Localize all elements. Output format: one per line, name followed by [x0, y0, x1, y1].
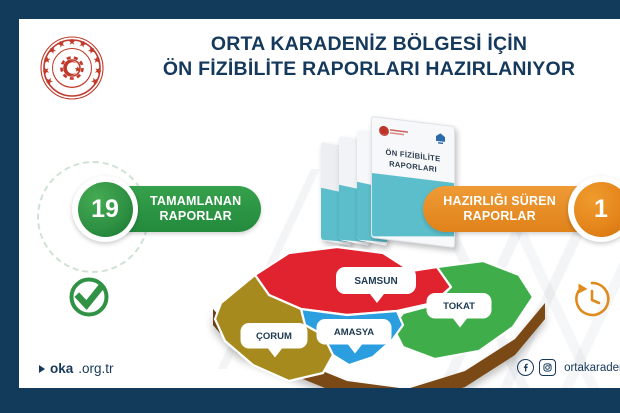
map-label-amasya: AMASYA — [334, 327, 374, 338]
check-circle-icon — [67, 275, 111, 319]
instagram-icon[interactable] — [539, 359, 556, 376]
ministry-logo-small — [379, 125, 409, 140]
completed-label-line-2: RAPORLAR — [150, 209, 241, 224]
bottom-navy-band — [0, 388, 620, 413]
social-handle: ortakaradeni — [564, 362, 620, 374]
in-progress-count-disc: 1 — [568, 176, 620, 242]
content-panel: ORTA KARADENİZ BÖLGESİ İÇİN ÖN FİZİBİLİT… — [19, 19, 620, 388]
website-url[interactable]: oka.org.tr — [39, 361, 114, 376]
in-progress-label-line-2: RAPORLAR — [443, 209, 556, 224]
title-line-2: ÖN FİZİBİLİTE RAPORLARI HAZIRLANIYOR — [119, 58, 619, 80]
stat-badge-in-progress[interactable]: 1 HAZIRLIĞI SÜREN RAPORLAR — [423, 176, 620, 242]
completed-count-disc: 19 — [72, 176, 138, 242]
stat-badge-completed[interactable]: 19 TAMAMLANAN RAPORLAR — [72, 176, 261, 242]
facebook-icon[interactable] — [517, 359, 534, 376]
clock-arrow-icon — [570, 277, 614, 321]
in-progress-count: 1 — [574, 182, 620, 237]
page-title: ORTA KARADENİZ BÖLGESİ İÇİN ÖN FİZİBİLİT… — [119, 33, 619, 81]
in-progress-label: HAZIRLIĞI SÜREN RAPORLAR — [423, 186, 582, 232]
cover-logos — [379, 125, 447, 146]
header: ORTA KARADENİZ BÖLGESİ İÇİN ÖN FİZİBİLİT… — [19, 19, 620, 99]
oka-logo-small — [434, 132, 447, 146]
completed-count: 19 — [78, 182, 133, 237]
map-label-tokat: TOKAT — [443, 301, 475, 312]
completed-label: TAMAMLANAN RAPORLAR — [124, 186, 261, 232]
triangle-bullet-icon — [39, 365, 45, 373]
footer: oka.org.tr ortakaradeni — [19, 344, 620, 388]
completed-label-line-1: TAMAMLANAN — [150, 194, 241, 209]
infographic-poster: ORTA KARADENİZ BÖLGESİ İÇİN ÖN FİZİBİLİT… — [0, 0, 620, 413]
url-bold: oka — [50, 361, 73, 376]
title-line-1: ORTA KARADENİZ BÖLGESİ İÇİN — [119, 33, 619, 55]
map-label-corum: ÇORUM — [256, 331, 292, 342]
in-progress-label-line-1: HAZIRLIĞI SÜREN — [443, 194, 556, 209]
social-links[interactable]: ortakaradeni — [517, 359, 620, 376]
map-label-samsun: SAMSUN — [354, 276, 397, 287]
turkish-ministry-of-industry-and-technology-emblem — [39, 35, 105, 101]
url-rest: .org.tr — [78, 361, 113, 376]
cover-title: ÖN FİZİBİLİTE RAPORLARI — [372, 145, 454, 178]
